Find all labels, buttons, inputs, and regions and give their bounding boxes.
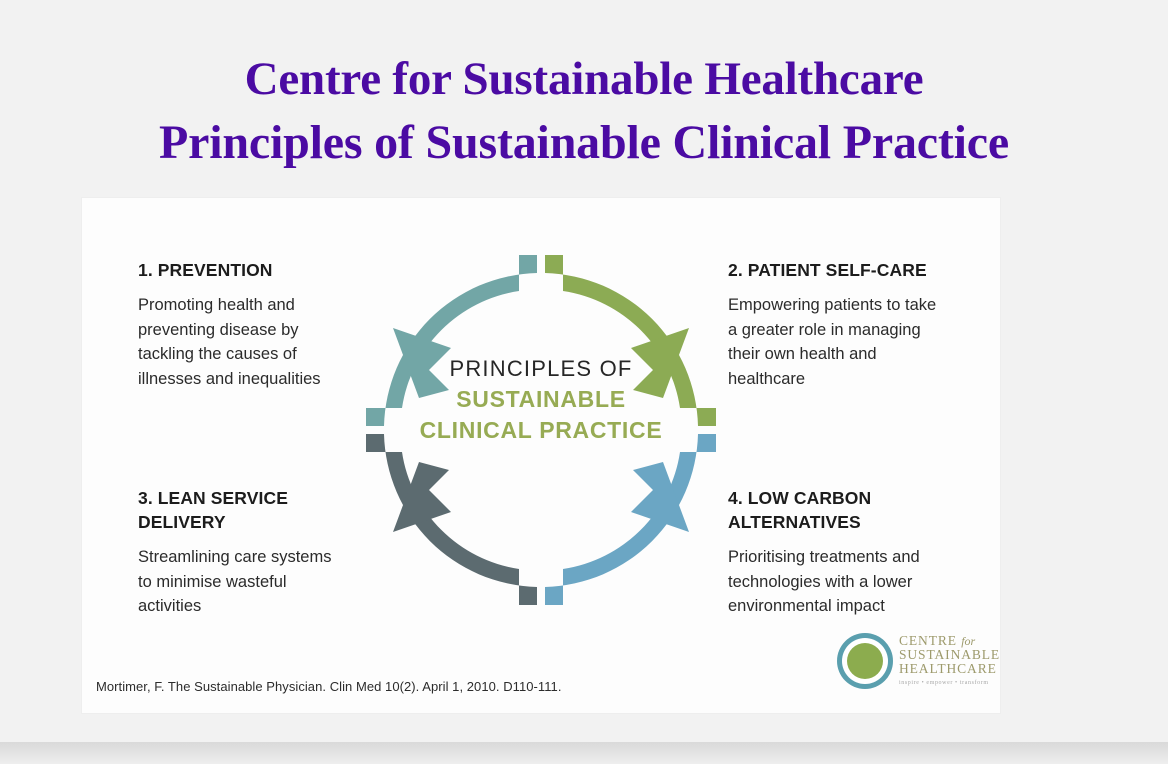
cycle-diagram-main <box>341 230 741 630</box>
csh-logo-inner-dot-icon <box>847 643 883 679</box>
csh-logo-centre: CENTRE <box>899 633 957 648</box>
quadrant-patient-self-care: 2. PATIENT SELF-CARE Empowering patients… <box>728 258 943 391</box>
quadrant-low-carbon-alternatives-body: Prioritising treatments and technologies… <box>728 545 943 619</box>
quadrant-prevention-heading: 1. PREVENTION <box>138 258 353 282</box>
quadrant-lean-service-delivery-heading: 3. LEAN SERVICE DELIVERY <box>138 486 343 534</box>
arc-arrow-lean-service-delivery <box>366 434 537 605</box>
csh-logo-circle-icon <box>837 633 893 689</box>
arc-arrow-low-carbon-alternatives <box>545 434 716 605</box>
quadrant-low-carbon-alternatives-heading: 4. LOW CARBON ALTERNATIVES <box>728 486 943 534</box>
csh-logo-line-2: SUSTAINABLE <box>899 648 1000 662</box>
csh-logo-line-3: HEALTHCARE <box>899 662 1000 676</box>
quadrant-patient-self-care-body: Empowering patients to take a greater ro… <box>728 293 943 391</box>
csh-logo-for: for <box>961 634 975 648</box>
page-title: Centre for Sustainable Healthcare Princi… <box>0 48 1168 174</box>
quadrant-prevention-body: Promoting health and preventing disease … <box>138 293 353 391</box>
quadrant-prevention: 1. PREVENTION Promoting health and preve… <box>138 258 353 391</box>
arc-arrow-patient-self-care <box>545 255 716 426</box>
page-title-line-2: Principles of Sustainable Clinical Pract… <box>0 111 1168 174</box>
csh-logo-line-1: CENTRE for <box>899 634 1000 649</box>
quadrant-lean-service-delivery: 3. LEAN SERVICE DELIVERY Streamlining ca… <box>138 486 343 619</box>
page-title-line-1: Centre for Sustainable Healthcare <box>0 48 1168 111</box>
arc-arrow-prevention <box>366 255 537 426</box>
bottom-strip <box>0 742 1168 764</box>
citation-text: Mortimer, F. The Sustainable Physician. … <box>96 679 562 694</box>
figure-panel: 1. PREVENTION Promoting health and preve… <box>82 198 1000 713</box>
quadrant-patient-self-care-heading: 2. PATIENT SELF-CARE <box>728 258 943 282</box>
quadrant-lean-service-delivery-body: Streamlining care systems to minimise wa… <box>138 545 343 619</box>
csh-logo: CENTRE for SUSTAINABLE HEALTHCARE inspir… <box>837 630 997 692</box>
csh-logo-tagline: inspire • empower • transform <box>899 675 1000 691</box>
quadrant-low-carbon-alternatives: 4. LOW CARBON ALTERNATIVES Prioritising … <box>728 486 943 619</box>
csh-logo-text: CENTRE for SUSTAINABLE HEALTHCARE inspir… <box>899 632 1000 691</box>
